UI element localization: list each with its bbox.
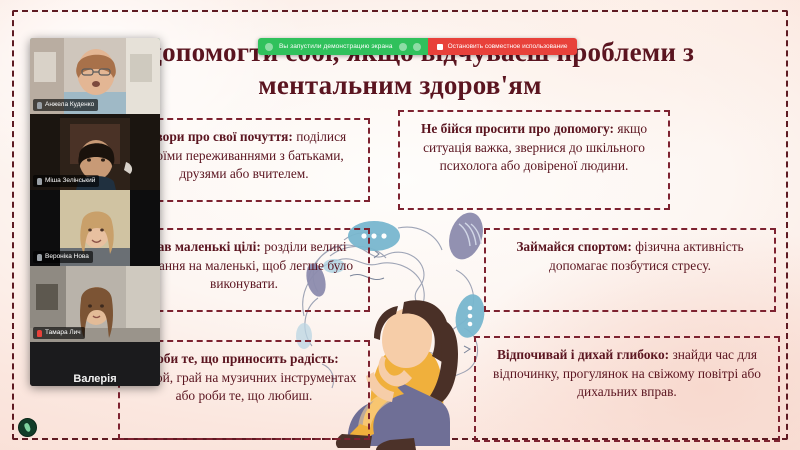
participant-name-1: Анжела Куденко — [45, 100, 94, 110]
microphone-icon — [37, 254, 42, 261]
microphone-icon — [37, 102, 42, 109]
participant-tile-1[interactable]: Анжела Куденко — [30, 38, 160, 114]
stop-share-label: Остановить совместное использование — [448, 43, 568, 50]
tip-card-rest-and-breathe: Відпочивай і дихай глибоко: знайди час д… — [474, 336, 780, 442]
tip-body: малюй, грай на музичних інструментах або… — [132, 370, 357, 404]
microphone-muted-icon — [37, 330, 42, 337]
screen-share-icon — [265, 43, 273, 51]
stop-share-button[interactable]: Остановить совместное использование — [428, 38, 577, 55]
leaf-icon — [23, 422, 31, 432]
tip-heading: Відпочивай і дихай глибоко: — [497, 347, 669, 362]
participant-name-2: Міша Зелінський — [45, 176, 95, 186]
tip-heading: Роби те, що приносить радість: — [149, 351, 339, 366]
tip-card-do-sport: Займайся спортом: фізична активність доп… — [484, 228, 776, 312]
microphone-icon — [37, 178, 42, 185]
stop-share-icon — [437, 44, 443, 50]
tip-heading: Говори про свої почуття: — [142, 129, 293, 144]
annotate-icon[interactable] — [413, 43, 421, 51]
participant-name-3: Вероніка Нова — [45, 252, 89, 262]
tip-heading: Не бійся просити про допомогу: — [421, 121, 614, 136]
participant-avatar-name: Валерія — [73, 373, 116, 385]
tip-card-ask-for-help: Не бійся просити про допомогу: якщо ситу… — [398, 110, 670, 210]
participant-name-bar-3: Вероніка Нова — [33, 251, 93, 263]
video-filmstrip[interactable]: Анжела Куденко Міша Зелінський — [30, 38, 160, 386]
screen-share-toolbar[interactable]: Вы запустили демонстрацию экрана Останов… — [258, 38, 577, 55]
participant-tile-5[interactable]: Валерія Валерія — [30, 342, 160, 386]
tip-heading: Займайся спортом: — [516, 239, 632, 254]
participant-tile-3[interactable]: Вероніка Нова — [30, 190, 160, 266]
leaf-badge — [18, 418, 37, 437]
participant-name-bar-1: Анжела Куденко — [33, 99, 98, 111]
screen-share-view: Як допомогти собі, якщо відчуваєш пробле… — [0, 0, 800, 450]
pause-icon[interactable] — [399, 43, 407, 51]
participant-name-4: Тамара Лич — [45, 328, 81, 338]
share-status-label: Вы запустили демонстрацию экрана — [279, 43, 393, 50]
share-status-pill[interactable]: Вы запустили демонстрацию экрана — [258, 38, 428, 55]
participant-tile-4[interactable]: Тамара Лич — [30, 266, 160, 342]
participant-name-bar-4: Тамара Лич — [33, 327, 85, 339]
participant-name-bar-2: Міша Зелінський — [33, 175, 99, 187]
participant-tile-2[interactable]: Міша Зелінський — [30, 114, 160, 190]
